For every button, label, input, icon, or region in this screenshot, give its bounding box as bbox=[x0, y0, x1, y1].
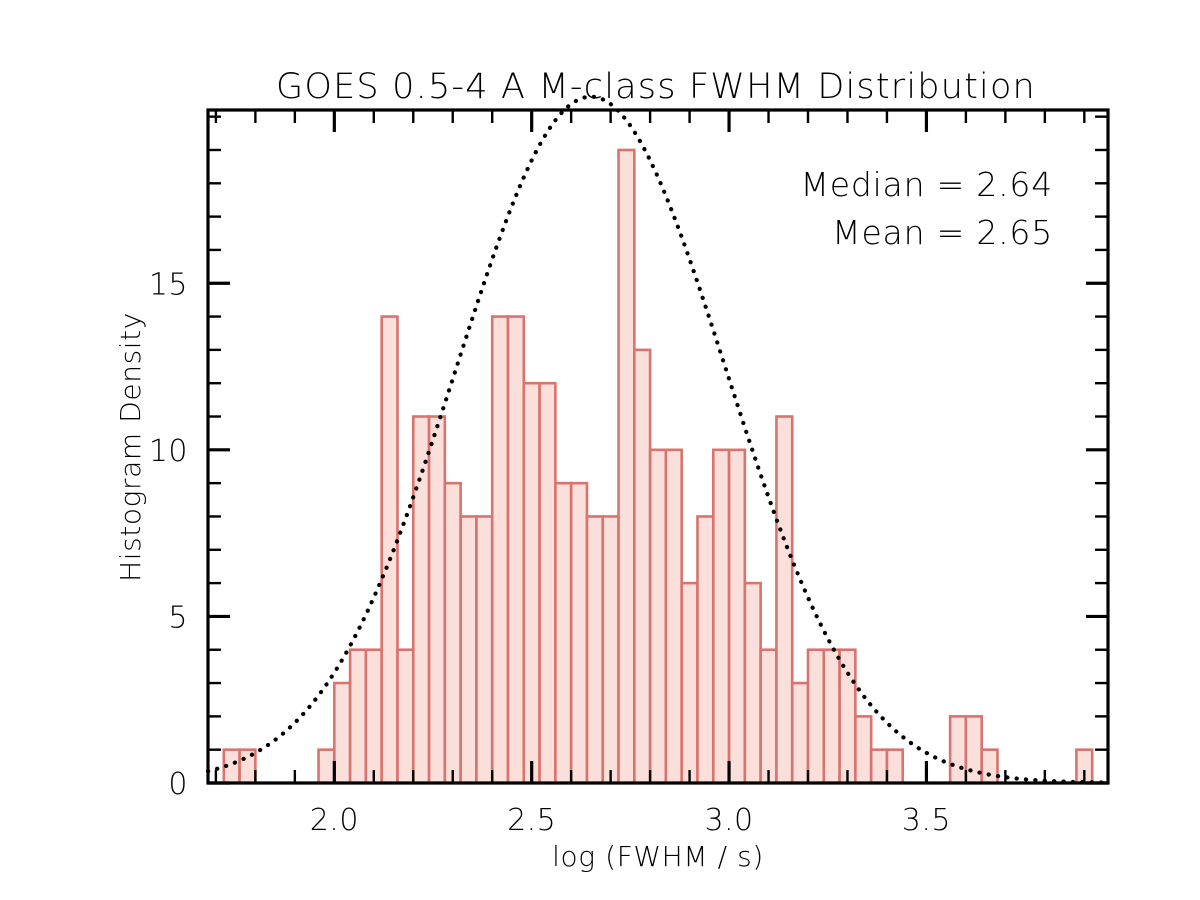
histogram-bar bbox=[776, 417, 792, 783]
histogram-bar bbox=[445, 483, 461, 783]
histogram-bar bbox=[476, 516, 492, 783]
histogram-bar bbox=[887, 750, 903, 783]
histogram-bar bbox=[619, 150, 635, 783]
histogram-bar bbox=[697, 516, 713, 783]
histogram-bar bbox=[855, 716, 871, 783]
histogram-bar bbox=[366, 650, 382, 783]
histogram-bar bbox=[808, 650, 824, 783]
median-annotation: Median = 2.64 bbox=[800, 165, 1053, 204]
histogram-bar bbox=[761, 650, 777, 783]
histogram-bar bbox=[603, 516, 619, 783]
x-tick-label: 2.0 bbox=[310, 803, 359, 838]
y-axis-label: Histogram Density bbox=[114, 312, 147, 582]
histogram-bar bbox=[571, 483, 587, 783]
histogram-bar bbox=[792, 683, 808, 783]
x-tick-label: 2.5 bbox=[507, 803, 556, 838]
histogram-bar bbox=[540, 383, 556, 783]
chart-figure: GOES 0.5-4 A M-class FWHM Distribution 2… bbox=[0, 0, 1200, 900]
chart-title: GOES 0.5-4 A M-class FWHM Distribution bbox=[276, 67, 1036, 107]
histogram-bar bbox=[682, 583, 698, 783]
histogram-plot: GOES 0.5-4 A M-class FWHM Distribution 2… bbox=[0, 0, 1200, 900]
histogram-bar bbox=[729, 450, 745, 783]
histogram-bar bbox=[587, 516, 603, 783]
histogram-bar bbox=[492, 317, 508, 783]
mean-annotation: Mean = 2.65 bbox=[832, 213, 1053, 252]
x-tick-label: 3.0 bbox=[704, 803, 753, 838]
histogram-bar bbox=[840, 650, 856, 783]
x-axis-label: log (FWHM / s) bbox=[552, 840, 764, 873]
histogram-bar bbox=[429, 417, 445, 783]
histogram-bar bbox=[824, 650, 840, 783]
x-tick-label: 3.5 bbox=[902, 803, 951, 838]
histogram-bar bbox=[334, 683, 350, 783]
histogram-bar bbox=[508, 317, 524, 783]
histogram-bar bbox=[650, 450, 666, 783]
histogram-bar bbox=[634, 350, 650, 783]
histogram-bar bbox=[982, 750, 998, 783]
histogram-bar bbox=[666, 450, 682, 783]
histogram-bar bbox=[319, 750, 335, 783]
histogram-bar bbox=[524, 383, 540, 783]
y-tick-label: 5 bbox=[168, 600, 188, 635]
histogram-bar bbox=[871, 750, 887, 783]
histogram-bar bbox=[555, 483, 571, 783]
y-tick-label: 15 bbox=[149, 267, 188, 302]
histogram-bar bbox=[350, 650, 366, 783]
histogram-bar bbox=[461, 516, 477, 783]
y-tick-label: 0 bbox=[168, 767, 188, 802]
histogram-bar bbox=[950, 716, 966, 783]
y-tick-label: 10 bbox=[149, 434, 188, 469]
histogram-bar bbox=[745, 583, 761, 783]
histogram-bar bbox=[713, 450, 729, 783]
histogram-bar bbox=[397, 650, 413, 783]
